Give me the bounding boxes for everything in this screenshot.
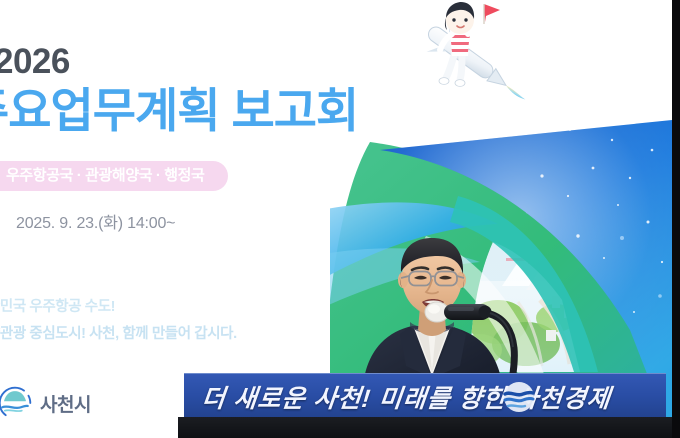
page-title: 주요업무계획 보고회 (0, 86, 358, 135)
event-year: 2026 (0, 44, 70, 79)
slogan-line-1: 대한민국 우주항공 수도! (0, 295, 115, 316)
city-logo: 사천시 (0, 386, 91, 420)
sacheon-city-emblem-icon (0, 386, 32, 420)
podium: 더 새로운 사천! 미래를 향한 사천경제 (178, 369, 672, 438)
sacheon-wave-circle-icon (502, 380, 536, 414)
podium-banner: 더 새로운 사천! 미래를 향한 사천경제 (184, 373, 666, 419)
podium-base (178, 417, 672, 438)
event-datetime: 2025. 9. 23.(화) 14:00~ (16, 209, 175, 233)
press-photo: 2026 주요업무계획 보고회 우주항공국 · 관광해양국 · 행정국 2025… (0, 0, 680, 438)
department-badge: 우주항공국 · 관광해양국 · 행정국 (0, 161, 228, 191)
child-riding-rocket-icon (400, 0, 530, 116)
photo-right-edge-strip (672, 0, 680, 438)
podium-banner-text: 더 새로운 사천! 미래를 향한 사천경제 (200, 379, 613, 415)
city-logo-label: 사천시 (40, 390, 91, 417)
slogan-line-2: 해양관광 중심도시! 사천, 함께 만들어 갑시다. (0, 322, 237, 343)
